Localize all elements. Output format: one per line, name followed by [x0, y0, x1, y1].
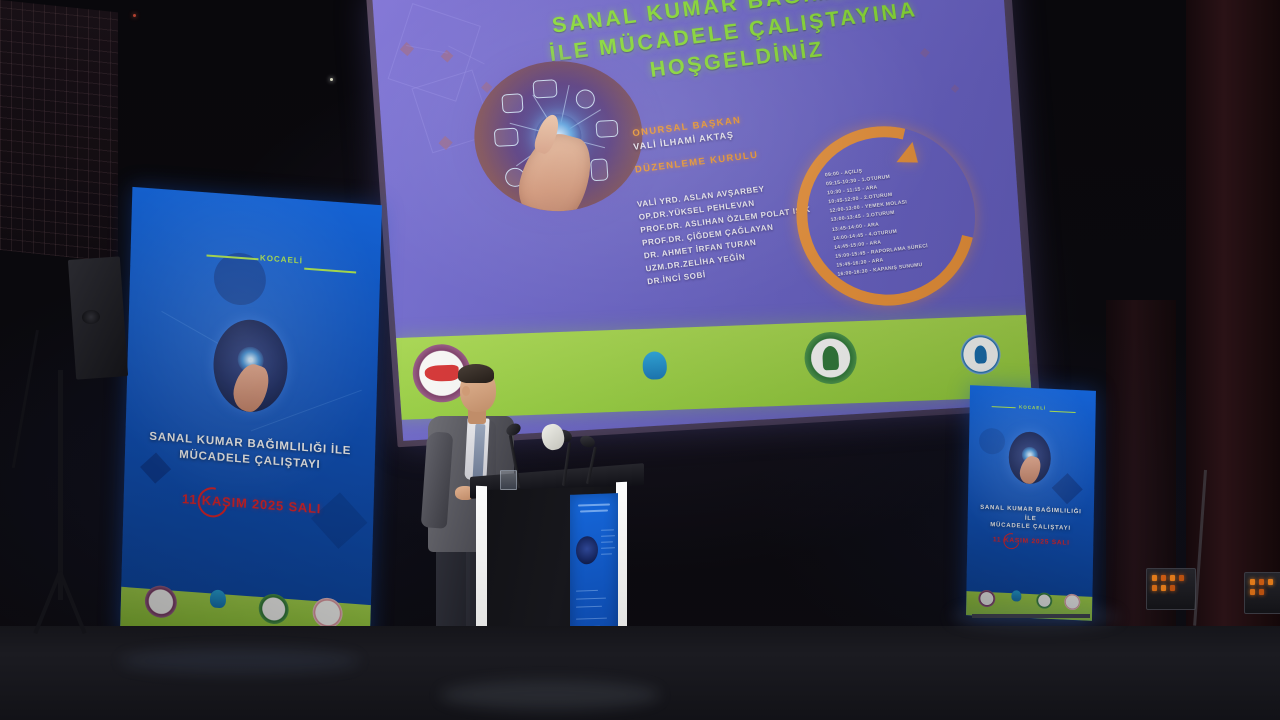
speaker-ear: [462, 386, 470, 396]
poster-text-line: [576, 598, 606, 600]
banner-decor-diamond: [974, 423, 1011, 460]
rack-indicator-led: [1161, 575, 1166, 581]
rack-indicator-led: [1170, 585, 1175, 591]
schedule-list: 09:00 - AÇILIŞ 09:15-10:30 - 1.OTURUM 10…: [825, 155, 980, 280]
poster-text-line: [601, 547, 615, 549]
wall-panel-texture: [0, 0, 118, 262]
banner-title: SANAL KUMAR BAĞIMLILIĞI İLE MÜCADELE ÇAL…: [974, 503, 1088, 534]
rack-indicator-led: [1179, 575, 1184, 581]
kocaeli-buyuksehir-belediyesi-logo: [202, 587, 233, 623]
saglik-bakanligi-logo: [312, 597, 343, 629]
kocaeli-buyuksehir-belediyesi-logo: [632, 340, 678, 392]
rollup-banner-left: KOCAELİ SANAL KUMAR BAĞIMLILIĞI İLE MÜCA…: [120, 187, 382, 651]
slide-decor-dot: [951, 84, 959, 92]
kocaeli-universitesi-logo: [803, 331, 857, 385]
banner-title: SANAL KUMAR BAĞIMLILIĞI İLE MÜCADELE ÇAL…: [139, 428, 362, 477]
poster-text-line: [576, 618, 607, 620]
device-icon-laptop: [494, 128, 519, 147]
banner-decor-diamond: [311, 492, 367, 549]
kocaeli-valiligi-logo: [144, 585, 177, 619]
saglik-bakanligi-logo: [960, 334, 1002, 375]
device-icon-monitor: [532, 79, 557, 98]
poster-title-line: [578, 503, 610, 506]
rack-indicator-led: [1152, 585, 1157, 591]
kocaeli-universitesi-logo: [258, 593, 289, 625]
floor-reflection: [120, 648, 360, 674]
rack-indicator-led: [1259, 579, 1264, 585]
ceiling-light-dot: [133, 14, 136, 17]
poster-text-line: [576, 606, 602, 608]
rack-indicator-led: [1268, 579, 1273, 585]
banner-decor-line: [251, 390, 362, 432]
banner-tech-circle: [1008, 431, 1051, 485]
rack-indicator-led: [1259, 589, 1264, 595]
rack-indicator-led: [1152, 575, 1157, 581]
podium-water-glass: [500, 470, 517, 490]
auditorium-stage-scene: SANAL KUMAR BAĞIMLILIĞI İLE MÜCADELE ÇAL…: [0, 0, 1280, 720]
banner-date-arc: [1000, 530, 1022, 552]
stage-floor: [0, 626, 1280, 720]
poster-title-line: [580, 510, 608, 513]
committee-heading: DÜZENLEME KURULU: [634, 150, 759, 176]
poster-tech-circle: [576, 536, 598, 565]
rack-indicator-led: [1250, 589, 1255, 595]
poster-text-line: [601, 535, 615, 537]
rack-indicator-led: [1170, 575, 1175, 581]
banner-decor-line: [161, 311, 277, 377]
banner-date: 11 KASIM 2025 SALI: [154, 489, 350, 518]
speaker-hair: [458, 364, 494, 383]
banner-decor-diamond: [1052, 473, 1083, 504]
banner-region-label: KOCAELİ: [258, 253, 304, 265]
floor-reflection: [950, 604, 1120, 630]
banner-title-line-2: MÜCADELE ÇALIŞTAYI: [974, 521, 1088, 535]
banner-dash-right: [1050, 411, 1076, 414]
poster-text-line: [601, 529, 614, 531]
banner-dash-left: [207, 254, 259, 260]
banner-hand-graphic: [229, 360, 273, 414]
poster-text-line: [601, 541, 613, 543]
rack-indicator-led: [1161, 585, 1166, 591]
device-icon-cart: [501, 93, 523, 113]
banner-date: 11 KASIM 2025 SALI: [981, 536, 1081, 548]
banner-decor-diamond: [140, 453, 171, 484]
floor-reflection: [440, 680, 660, 710]
stage-equipment-rack: [1146, 568, 1196, 610]
banner-date-arc: [192, 482, 233, 523]
banner-decor-diamond: [203, 242, 276, 316]
banner-title-line-1: SANAL KUMAR BAĞIMLILIĞI İLE: [139, 428, 361, 461]
poster-text-line: [601, 553, 612, 555]
banner-tech-circle: [212, 317, 288, 414]
poster-text-line: [576, 590, 598, 592]
stage-equipment-rack: [1244, 572, 1280, 614]
ceiling-light-dot: [330, 78, 333, 81]
speaker-stand-pole: [58, 370, 63, 600]
schedule-circular-arrow: 09:00 - AÇILIŞ 09:15-10:30 - 1.OTURUM 10…: [782, 115, 981, 314]
device-icon-grid: [575, 89, 595, 109]
banner-dash-right: [304, 268, 356, 274]
banner-region-label: KOCAELİ: [1016, 404, 1050, 411]
banner-hand-graphic: [1017, 454, 1043, 485]
device-icon-card: [595, 120, 618, 138]
banner-title-line-2: MÜCADELE ÇALIŞTAYI: [139, 444, 361, 477]
banner-dash-left: [992, 406, 1016, 408]
rollup-banner-right: KOCAELİ SANAL KUMAR BAĞIMLILIĞI İLE MÜCA…: [966, 385, 1096, 621]
rack-indicator-led: [1250, 579, 1255, 585]
banner-title-line-1: SANAL KUMAR BAĞIMLILIĞI İLE: [974, 503, 1088, 526]
device-icon-tablet: [590, 158, 609, 181]
